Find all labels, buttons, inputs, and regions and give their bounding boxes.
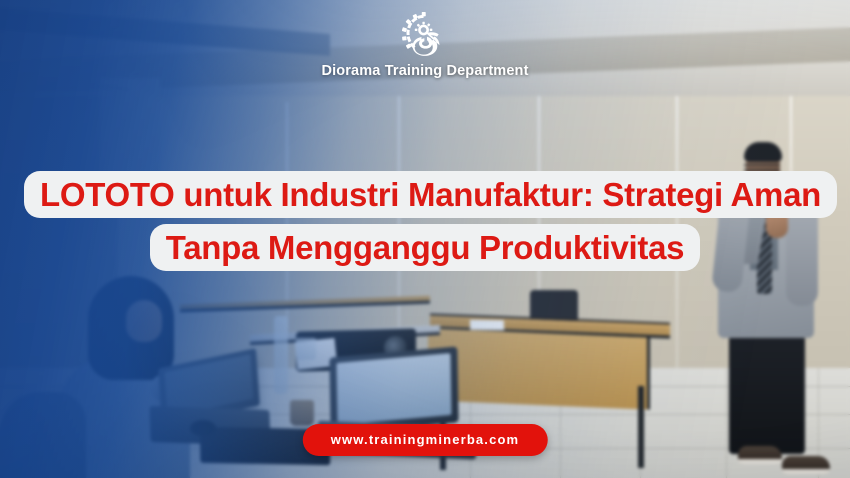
page-title: LOTOTO untuk Industri Manufaktur: Strate… bbox=[24, 171, 837, 271]
brand-header: Diorama Training Department bbox=[0, 12, 850, 79]
gear-logo-icon bbox=[402, 12, 448, 58]
thumbnail-canvas: Diorama Training Department LOTOTO untuk… bbox=[0, 0, 850, 478]
title-block: LOTOTO untuk Industri Manufaktur: Strate… bbox=[0, 168, 850, 275]
brand-name: Diorama Training Department bbox=[321, 63, 528, 79]
website-url-badge[interactable]: www.trainingminerba.com bbox=[303, 424, 548, 456]
